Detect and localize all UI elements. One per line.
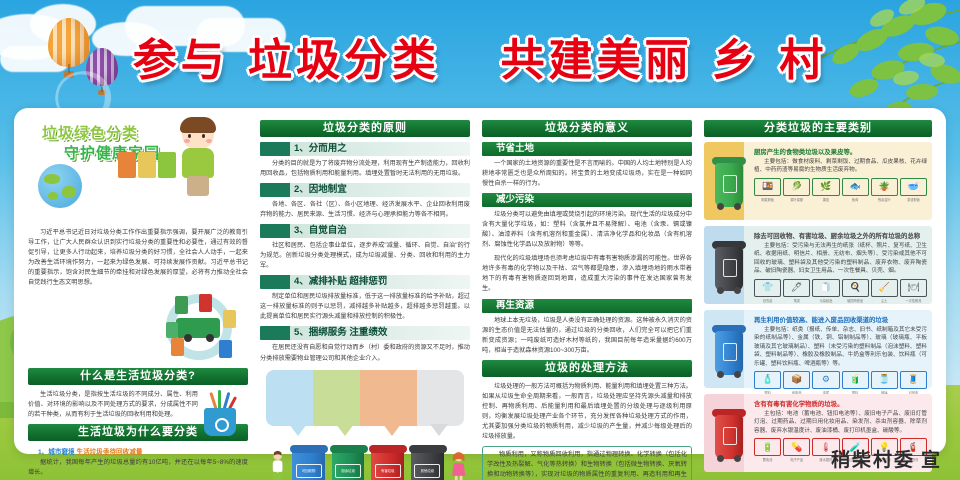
hero-slogan-line1: 垃圾绿色分类 (42, 124, 138, 142)
treatment-method-body: 物质利用，又称物质回收利用，指通过物理转换、化学转换（包括化学改性及热裂解、气化… (487, 450, 687, 480)
category-icon-battery: 🔋 蓄电池 (754, 438, 781, 462)
bin-illustration (709, 231, 749, 300)
bin-kitchen: 厨余垃圾 (332, 450, 365, 480)
column-overview: 垃圾绿色分类 守护健康家园 (22, 114, 254, 448)
category-card-recyclable: 再生利用价值较高、能进入废品回收渠道的垃圾 主要包括：纸类（报纸、传单、杂志、旧… (704, 310, 932, 388)
significance-title: 节省土地 (496, 142, 534, 156)
hero-illustration: 垃圾绿色分类 守护健康家园 (28, 118, 248, 226)
bin-symbol (723, 259, 737, 277)
significance-title: 减少污染 (496, 193, 534, 207)
category-icon-plastic: 🧃 塑料 (842, 371, 869, 395)
principle-heading: 1、分而用之 (260, 142, 470, 156)
principle-heading: 3、自觉自治 (260, 224, 470, 238)
why-sort-item-highlight: 生活垃圾亟待回收减量 (76, 449, 142, 456)
treatment-intro: 垃圾处理的一般方法可概括为物质利用、能量利用和填埋处置三种方法。如果从垃圾生命全… (482, 382, 692, 442)
publisher-signature: 稍柴村委宣 (831, 445, 942, 472)
category-icon-tissue: 🧻 污染纸品 (812, 279, 839, 303)
principle-title: 4、减排补贴 超排惩罚 (294, 275, 387, 289)
bin-illustration (709, 147, 749, 216)
hero-intro-paragraph: 习近平总书记近日对垃圾分类工作作出重要指示强调，要开展广泛的教育引导工作，让广大… (28, 228, 248, 288)
publisher-suffix: 宣 (921, 450, 942, 471)
column-significance: 垃圾分类的意义 节省土地 一个国家的土地资源的重要性是不言而喻的。中国的人均土地… (476, 114, 698, 448)
title-part-2: 共建美丽 乡 村 (501, 35, 828, 86)
category-title: 厨房产生的食物类垃圾以及果皮等。 (754, 147, 927, 156)
category-body: 主包括：电池（蓄电池、钮扣电池等）、废旧电子产品、废旧灯管灯泡、过期药品、过期日… (754, 410, 927, 435)
category-icon-row: 👕 旧衣品 🖊 笔类 🧻 污染纸品 🍳 破损陶瓷品 🧹 (754, 279, 927, 303)
principle-body: 在居民还没有自愿和自觉行动而乡（村）委和政府的资源又不足时，推动分类排放需要物业… (260, 343, 470, 363)
principle-title: 2、因地制宜 (294, 183, 347, 197)
why-sort-item-body: 据统计，我国每年产生的垃圾总量约有10亿吨，并还在以每年5~8%的速度增长。 (28, 458, 248, 478)
category-icon-bottle: 🧴 塑料 (754, 371, 781, 395)
section-header-significance: 垃圾分类的意义 (482, 120, 692, 137)
category-icon-bowl: 🥣 茶渣剩饭 (900, 178, 927, 202)
boy-character-icon (176, 120, 220, 196)
category-icon-leftovers: 🍱 剩菜剩饭 (754, 178, 781, 202)
waste-fan-panel (266, 370, 464, 426)
column-principles: 垃圾分类的原则 1、分而用之 分类的目的就是为了将废弃物分流处理，利用现有生产制… (254, 114, 476, 448)
bin-label: 有害垃圾 (375, 464, 401, 478)
publisher-org: 稍柴村委 (831, 450, 915, 471)
category-icon-vegetable: 🥬 菜叶菜梗 (783, 178, 810, 202)
bin-illustration (709, 399, 749, 468)
category-title: 含有有毒有害化学物质的垃圾。 (754, 399, 927, 408)
bin-illustration (709, 315, 749, 384)
bin-symbol (723, 343, 737, 361)
why-sort-item: 1、城市窘境 生活垃圾亟待回收减量 据统计，我国每年产生的垃圾总量约有10亿吨，… (28, 446, 248, 478)
principle-title: 5、捆绑服务 注重绩效 (294, 326, 387, 340)
section-header-categories: 分类垃圾的主要类别 (704, 120, 932, 137)
column-categories: 分类垃圾的主要类别 厨房产生的食物类垃圾以及果皮等。 主要包括：做食材废料、剩菜… (698, 114, 938, 448)
category-card-other: 除去可回收物、有害垃圾、厨余垃圾之外的所有垃圾的总称 主要包括：受污染与无法再生… (704, 226, 932, 304)
category-icon-tableware: 🍽 一次性餐具 (900, 279, 927, 303)
bin-other: 其他垃圾 (411, 450, 444, 480)
principle-title: 1、分而用之 (294, 142, 347, 156)
principle-body: 分类的目的就是为了将废弃物分流处理，利用现有生产制造能力，回收利用回收品，包括物… (260, 159, 470, 179)
category-icon-row: 🧴 塑料 📦 纸制品 ⚙ 金属 🧃 塑料 🫙 (754, 371, 927, 395)
category-icon-metal: ⚙ 金属 (812, 371, 839, 395)
significance-body-extra: 现代化的垃圾填埋场也须考虑垃圾中有毒有害物质渗漏的可能性。世界各地许多有毒的化学… (482, 254, 692, 294)
waste-bucket-icon (198, 392, 242, 436)
category-icon-carton: 📦 纸制品 (783, 371, 810, 395)
section-header-principles: 垃圾分类的原则 (260, 120, 470, 137)
category-body: 主要包括：纸类（报纸、传单、杂志、旧书、纸制箱及其它未受污染的纸制品等）、金属（… (754, 326, 927, 368)
principle-body: 各地、各区、各社（区）、各小区地理、经济发展水平、企业回收利用废弃物的能力、居民… (260, 200, 470, 220)
significance-body: 垃圾分类可以避免由填埋或焚烧引起的环境污染。现代生活的垃圾成分中含有大量化学垃圾… (482, 210, 692, 250)
girl-standing-icon (451, 450, 466, 480)
treatment-method-box: 物质利用，又称物质回收利用，指通过物理转换、化学转换（包括化学改性及热裂解、气化… (482, 446, 692, 480)
category-icon-plant: 🪴 残余盆叶 (871, 178, 898, 202)
why-sort-item-num: 1、城市窘境 (38, 449, 75, 456)
category-icon-glass: 🫙 玻璃 (871, 371, 898, 395)
significance-heading: 减少污染 (482, 193, 692, 207)
globe-icon (38, 164, 82, 208)
significance-title: 再生资源 (496, 299, 534, 313)
three-bins-icon (118, 152, 176, 178)
category-title: 再生利用价值较高、能进入废品回收渠道的垃圾 (754, 315, 927, 324)
category-icon-electronics: 💊 电子产品 (783, 438, 810, 462)
content-board: 垃圾绿色分类 守护健康家园 (14, 108, 946, 454)
significance-body: 地球上本无垃圾，垃圾是人类没有正确处理的资源。这种被永久消灭的资源的生态价值是无… (482, 316, 692, 356)
significance-heading: 再生资源 (482, 299, 692, 313)
poster-root: ❍ ❍ ❍ ❍ 参与 垃圾分类 共建美丽 乡 村 垃圾绿色分类 守护健康家园 (0, 0, 960, 480)
category-card-kitchen: 厨房产生的食物类垃圾以及果皮等。 主要包括：做食材废料、剩菜剩饭、过期食品、瓜皮… (704, 142, 932, 220)
principle-heading: 2、因地制宜 (260, 183, 470, 197)
bin-recyclable: 可回收物 (292, 450, 325, 480)
category-icon-clothes: 👕 旧衣品 (754, 279, 781, 303)
section-header-treatment: 垃圾的处理方法 (482, 360, 692, 377)
category-icon-fish: 🐟 鱼肉 (842, 178, 869, 202)
category-icon-fabric: 🧵 可回收 (900, 371, 927, 395)
category-title: 除去可回收物、有害垃圾、厨余垃圾之外的所有垃圾的总称 (754, 231, 927, 240)
significance-body: 一个国家的土地资源的重要性是不言而喻的。中国的人均土地特别是人均耕地非常匮乏也是… (482, 159, 692, 189)
sorting-illustration: 可回收物 厨余垃圾 有害垃圾 其他垃圾 (260, 368, 470, 480)
category-body: 主要包括：做食材废料、剩菜剩饭、过期食品、瓜皮果核、花卉绿植、中药药渣等易腐的生… (754, 158, 927, 175)
category-icon-peel: 🌿 果皮 (812, 178, 839, 202)
bin-label: 可回收物 (296, 464, 322, 478)
bin-label: 其他垃圾 (414, 464, 440, 478)
person-throwing-icon (270, 450, 285, 480)
section-header-what-is-sorting: 什么是生活垃圾分类? (28, 368, 248, 385)
principle-heading: 4、减排补贴 超排惩罚 (260, 275, 470, 289)
category-icon-row: 🍱 剩菜剩饭 🥬 菜叶菜梗 🌿 果皮 🐟 鱼肉 🪴 (754, 178, 927, 202)
category-icon-ceramic: 🍳 破损陶瓷品 (842, 279, 869, 303)
principle-body: 制定单位和居民垃圾排放量标准，低于这一排放量标准的给予补贴，超过这一排放量标准的… (260, 292, 470, 322)
bin-label: 厨余垃圾 (335, 464, 361, 478)
category-icon-dust: 🧹 尘土 (871, 279, 898, 303)
title-part-1: 参与 垃圾分类 (133, 35, 440, 86)
four-bins-row: 可回收物 厨余垃圾 有害垃圾 其他垃圾 (270, 444, 466, 480)
principle-heading: 5、捆绑服务 注重绩效 (260, 326, 470, 340)
poster-title: 参与 垃圾分类 共建美丽 乡 村 (0, 24, 960, 88)
bin-symbol (723, 427, 737, 445)
category-body: 主要包括：受污染与无法再生的纸张（纸杯、照片、复写纸、卫生纸、收据用纸、明信片、… (754, 242, 927, 276)
recycle-loop-illustration (28, 292, 248, 364)
principle-body: 社区和居民、包括企事业单位，逐步养成"减量、循环、自觉、自治"的行为规范。创新垃… (260, 241, 470, 271)
significance-heading: 节省土地 (482, 142, 692, 156)
flow-arrows (274, 424, 462, 446)
principle-title: 3、自觉自治 (294, 224, 347, 238)
bin-hazardous: 有害垃圾 (371, 450, 404, 480)
why-sort-item-heading: 1、城市窘境 生活垃圾亟待回收减量 (28, 446, 248, 456)
category-icon-pen: 🖊 笔类 (783, 279, 810, 303)
bin-symbol (723, 175, 737, 193)
